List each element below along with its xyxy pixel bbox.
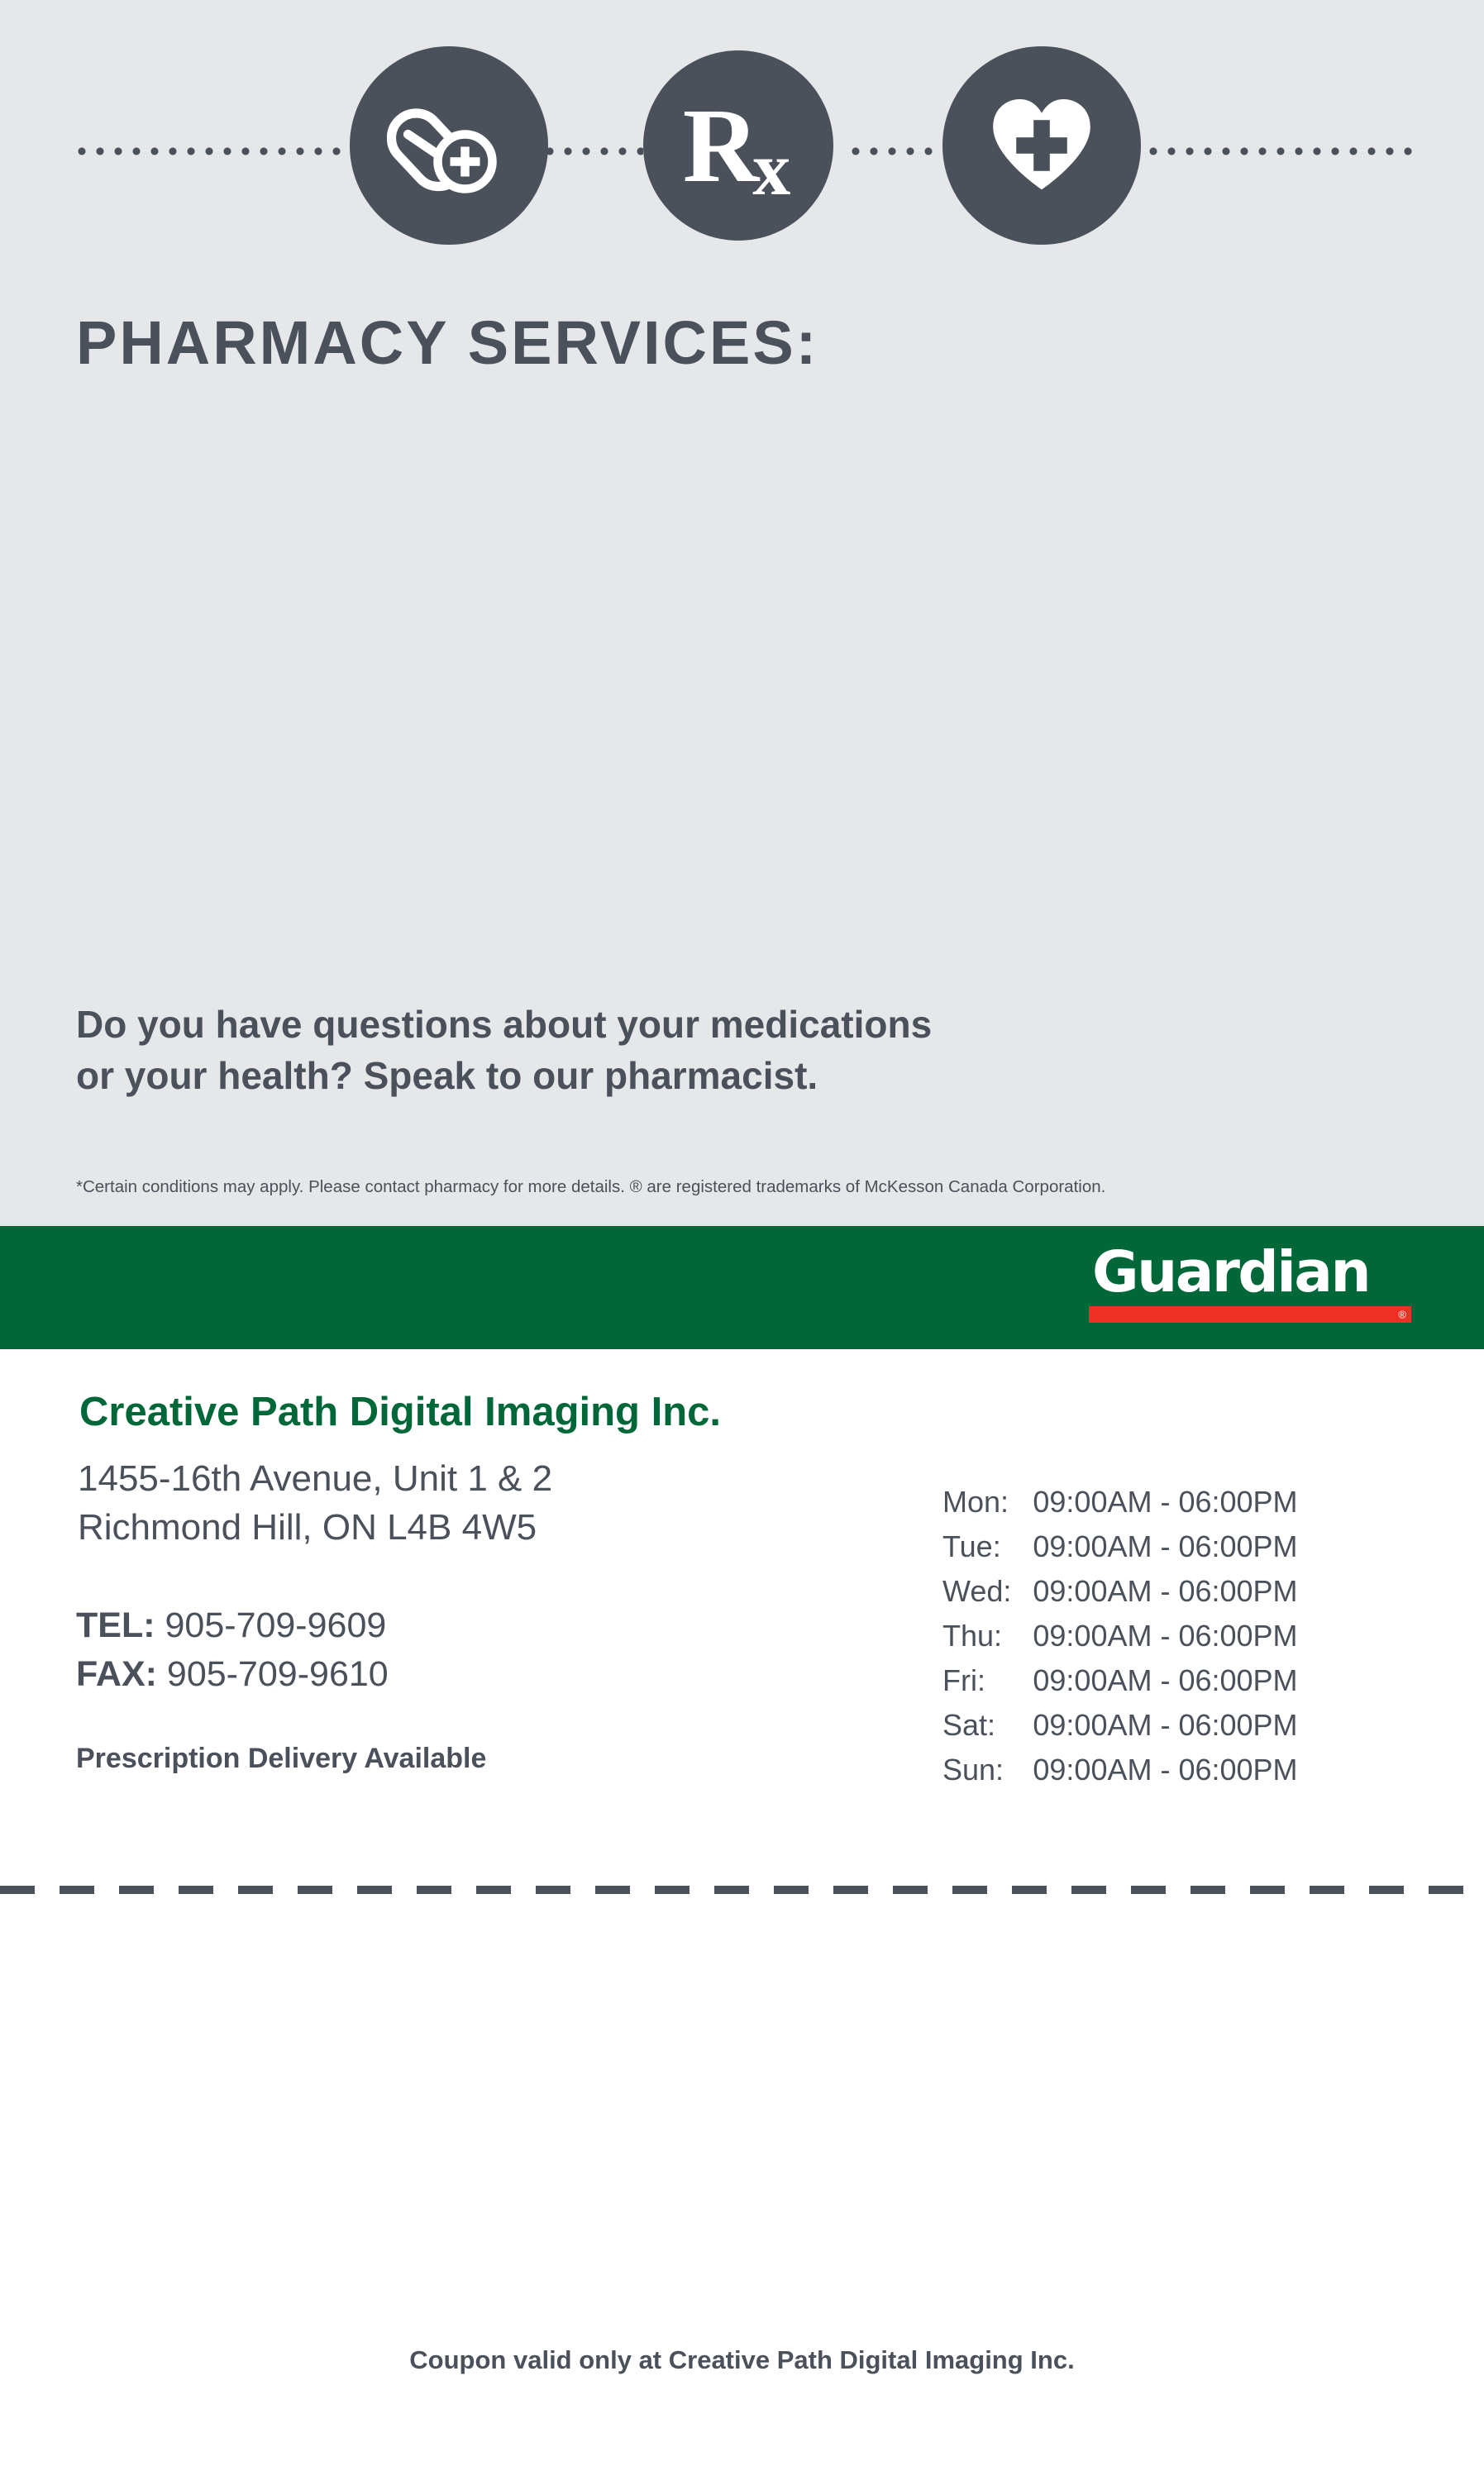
hours-day-label: Mon: — [942, 1485, 1033, 1529]
telephone-row: TEL: 905-709-9609 — [76, 1601, 389, 1650]
hours-time-value: 09:00AM - 06:00PM — [1033, 1708, 1297, 1753]
table-row: Wed: 09:00AM - 06:00PM — [942, 1574, 1298, 1619]
pharmacy-services-panel: Rx PHARMACY SERVICES: Do you have questi… — [0, 0, 1484, 1226]
hours-time-value: 09:00AM - 06:00PM — [1033, 1753, 1297, 1797]
hours-time-value: 09:00AM - 06:00PM — [1033, 1619, 1297, 1663]
hours-day-label: Thu: — [942, 1619, 1033, 1663]
heart-plus-icon — [942, 46, 1141, 245]
hours-time-value: 09:00AM - 06:00PM — [1033, 1574, 1297, 1619]
guardian-logo: Guardian ® — [1089, 1244, 1411, 1323]
table-row: Thu: 09:00AM - 06:00PM — [942, 1619, 1298, 1663]
address-line-1: 1455-16th Avenue, Unit 1 & 2 — [78, 1455, 552, 1504]
legal-disclaimer: *Certain conditions may apply. Please co… — [76, 1177, 1415, 1197]
table-row: Tue: 09:00AM - 06:00PM — [942, 1529, 1298, 1574]
pharmacy-icon-row: Rx — [0, 46, 1484, 260]
page-title: PHARMACY SERVICES: — [76, 308, 818, 378]
fax-row: FAX: 905-709-9610 — [76, 1650, 389, 1699]
hours-time-value: 09:00AM - 06:00PM — [1033, 1485, 1297, 1529]
address-line-2: Richmond Hill, ON L4B 4W5 — [78, 1504, 552, 1553]
delivery-note: Prescription Delivery Available — [76, 1743, 486, 1775]
question-line-2: or your health? Speak to our pharmacist. — [76, 1050, 1316, 1101]
fax-label: FAX: — [76, 1654, 157, 1694]
coupon-validity-note: Coupon valid only at Creative Path Digit… — [0, 2345, 1484, 2375]
hours-time-value: 09:00AM - 06:00PM — [1033, 1529, 1297, 1574]
store-info-section: Creative Path Digital Imaging Inc. 1455-… — [0, 1349, 1484, 1887]
hours-day-label: Sun: — [942, 1753, 1033, 1797]
table-row: Mon: 09:00AM - 06:00PM — [942, 1485, 1298, 1529]
guardian-wordmark: Guardian — [1089, 1244, 1411, 1301]
registered-trademark-icon: ® — [1398, 1310, 1406, 1320]
rx-icon: Rx — [643, 50, 833, 241]
table-row: Fri: 09:00AM - 06:00PM — [942, 1663, 1298, 1708]
hours-day-label: Wed: — [942, 1574, 1033, 1619]
rx-glyph: Rx — [683, 93, 794, 198]
hours-time-value: 09:00AM - 06:00PM — [1033, 1663, 1297, 1708]
hours-day-label: Sat: — [942, 1708, 1033, 1753]
fax-value[interactable]: 905-709-9610 — [167, 1654, 389, 1694]
services-list-area — [76, 413, 1407, 959]
telephone-label: TEL: — [76, 1605, 155, 1645]
coupon-cut-line — [0, 1886, 1484, 1894]
store-address: 1455-16th Avenue, Unit 1 & 2 Richmond Hi… — [78, 1455, 552, 1552]
table-row: Sat: 09:00AM - 06:00PM — [942, 1708, 1298, 1753]
hours-day-label: Tue: — [942, 1529, 1033, 1574]
coupon-area: Coupon valid only at Creative Path Digit… — [0, 1894, 1484, 2476]
store-name: Creative Path Digital Imaging Inc. — [79, 1389, 721, 1435]
pill-capsule-plus-icon — [350, 46, 548, 245]
store-contact-block: TEL: 905-709-9609 FAX: 905-709-9610 — [76, 1601, 389, 1699]
store-hours-table: Mon: 09:00AM - 06:00PM Tue: 09:00AM - 06… — [942, 1485, 1298, 1797]
pharmacist-question-text: Do you have questions about your medicat… — [76, 999, 1316, 1101]
guardian-underline-bar: ® — [1089, 1306, 1411, 1323]
question-line-1: Do you have questions about your medicat… — [76, 999, 1316, 1050]
table-row: Sun: 09:00AM - 06:00PM — [942, 1753, 1298, 1797]
rx-letter-x: x — [752, 126, 789, 211]
pharmacy-flyer-page: Rx PHARMACY SERVICES: Do you have questi… — [0, 0, 1484, 2476]
rx-letter-r: R — [683, 87, 757, 204]
telephone-value[interactable]: 905-709-9609 — [165, 1605, 387, 1645]
hours-day-label: Fri: — [942, 1663, 1033, 1708]
brand-band: Guardian ® — [0, 1226, 1484, 1349]
